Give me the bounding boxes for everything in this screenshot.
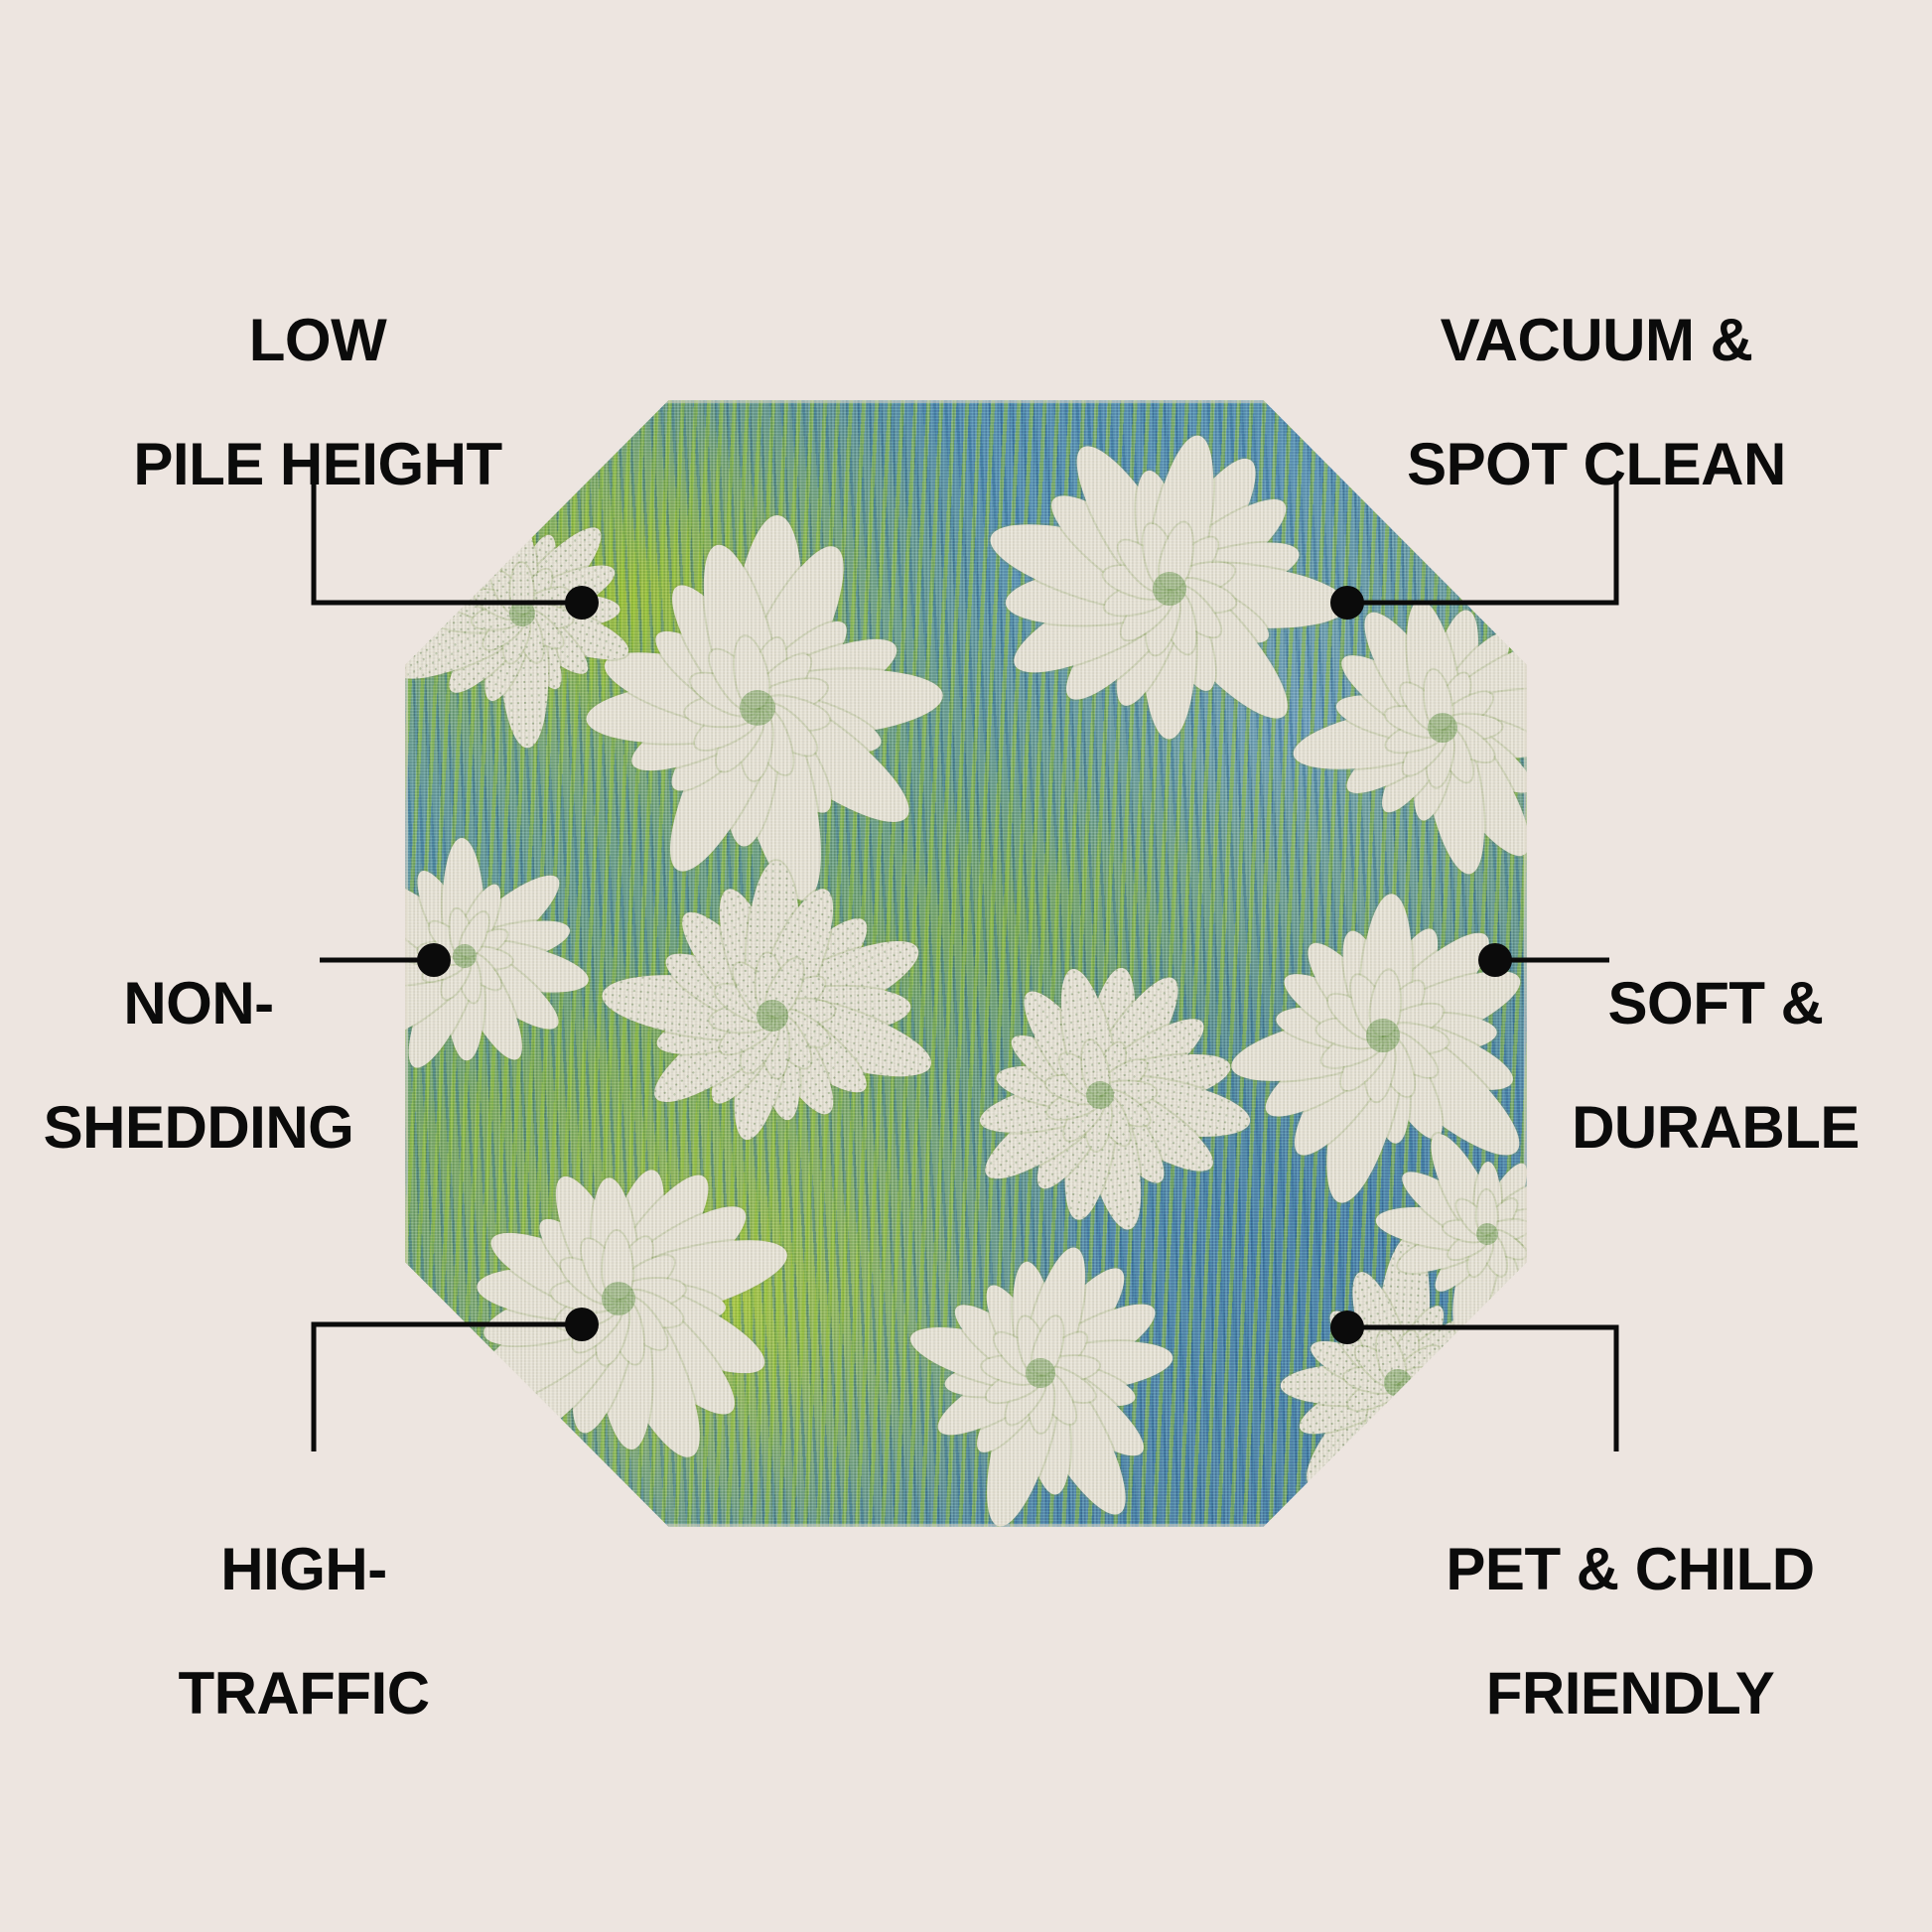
feature-line-1: NON-: [0, 973, 397, 1035]
feature-label-pet-child-friendly: PET & CHILD FRIENDLY: [1392, 1477, 1868, 1787]
feature-label-high-traffic: HIGH- TRAFFIC: [95, 1477, 512, 1787]
callout-dot-high-traffic: [565, 1308, 599, 1341]
feature-label-vacuum-spot-clean: VACUUM & SPOT CLEAN: [1368, 248, 1825, 558]
feature-line-1: VACUUM &: [1368, 310, 1825, 371]
callout-dot-vacuum-spot-clean: [1330, 586, 1364, 620]
feature-line-2: SPOT CLEAN: [1368, 434, 1825, 495]
feature-line-1: SOFT &: [1507, 973, 1924, 1035]
feature-line-2: DURABLE: [1507, 1097, 1924, 1159]
callout-dot-non-shedding: [417, 943, 451, 977]
feature-label-soft-durable: SOFT & DURABLE: [1507, 911, 1924, 1221]
feature-label-non-shedding: NON- SHEDDING: [0, 911, 397, 1221]
feature-line-2: TRAFFIC: [95, 1663, 512, 1725]
callout-dot-pet-child-friendly: [1330, 1311, 1364, 1344]
leader-line-pet-child-friendly: [1347, 1327, 1616, 1451]
feature-line-2: PILE HEIGHT: [109, 434, 526, 495]
feature-line-1: PET & CHILD: [1392, 1539, 1868, 1600]
feature-line-2: FRIENDLY: [1392, 1663, 1868, 1725]
feature-line-1: HIGH-: [95, 1539, 512, 1600]
feature-line-1: LOW: [109, 310, 526, 371]
feature-label-low-pile-height: LOW PILE HEIGHT: [109, 248, 526, 558]
feature-line-2: SHEDDING: [0, 1097, 397, 1159]
infographic-canvas: LOW PILE HEIGHT VACUUM & SPOT CLEAN NON-…: [0, 0, 1932, 1932]
callout-dot-low-pile-height: [565, 586, 599, 620]
leader-line-high-traffic: [314, 1324, 582, 1451]
